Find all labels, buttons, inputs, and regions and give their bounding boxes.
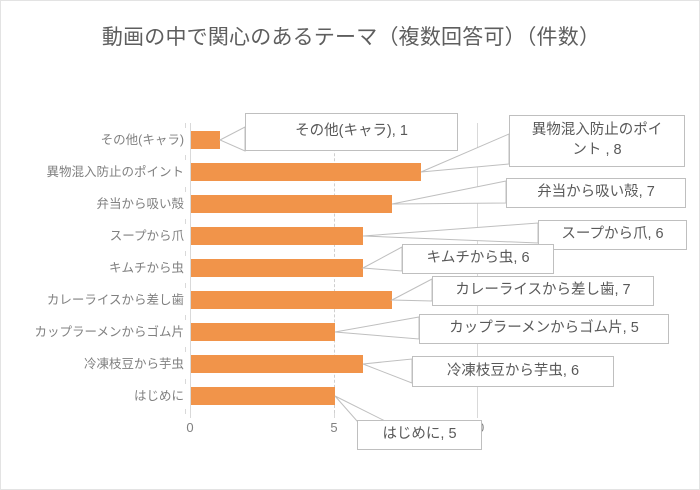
data-label-callout-2[interactable]: 弁当から吸い殻, 7 [506, 178, 686, 208]
data-label-callout-5[interactable]: カレーライスから差し歯, 7 [432, 276, 654, 306]
data-label-callout-1[interactable]: 異物混入防止のポイ ント , 8 [509, 115, 685, 167]
data-label-callout-6[interactable]: カップラーメンからゴム片, 5 [419, 314, 669, 344]
data-label-callout-4[interactable]: キムチから虫, 6 [402, 244, 554, 274]
data-label-callout-7[interactable]: 冷凍枝豆から芋虫, 6 [412, 356, 614, 387]
data-label-callout-8[interactable]: はじめに, 5 [357, 420, 482, 450]
data-label-callout-0[interactable]: その他(キャラ), 1 [245, 113, 458, 151]
data-label-callout-3[interactable]: スープから爪, 6 [538, 220, 687, 250]
chart-container: 動画の中で関心のあるテーマ（複数回答可）（件数） その他(キャラ) 異物混入防止… [0, 0, 700, 490]
